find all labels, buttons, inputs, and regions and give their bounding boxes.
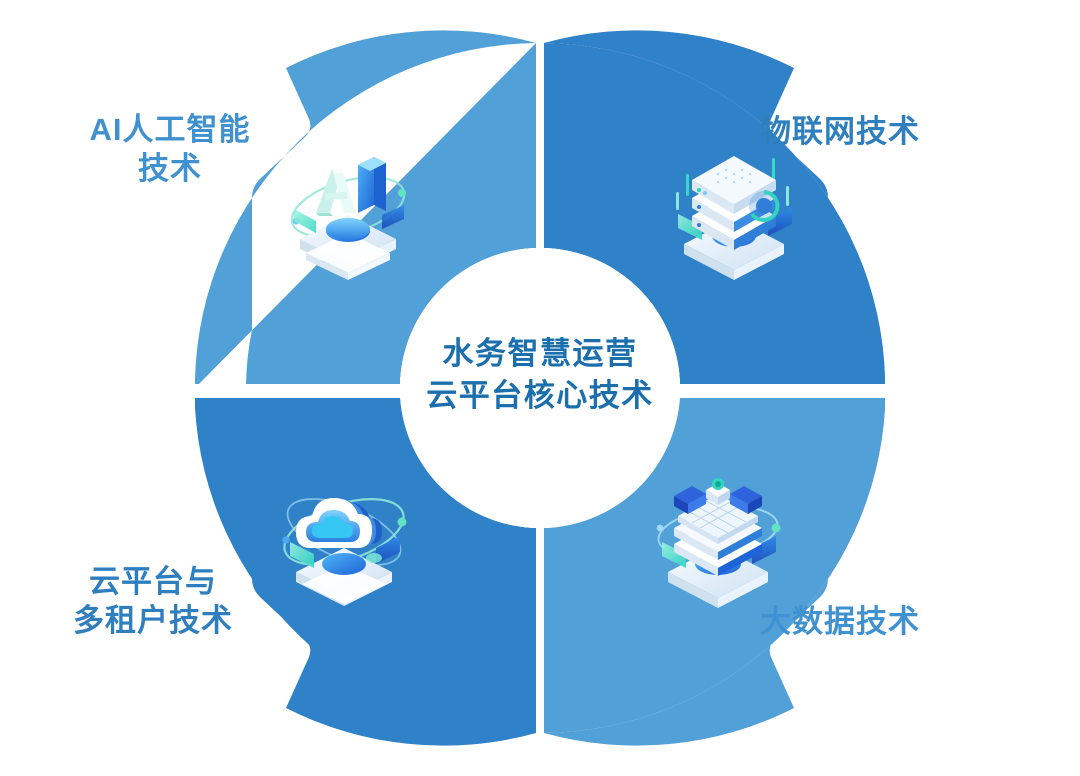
- center-title: 水务智慧运营 云平台核心技术: [390, 333, 690, 416]
- quadrant-label-ai[interactable]: AI人工智能 技术: [40, 110, 300, 188]
- quadrant-label-bigdata[interactable]: 大数据技术: [760, 602, 1040, 641]
- quadrant-label-iot[interactable]: 物联网技术: [760, 112, 1040, 151]
- quadrant-label-cloud[interactable]: 云平台与 多租户技术: [28, 562, 278, 640]
- diagram-canvas: AI人工智能 技术 物联网技术 云平台与 多租户技术 大数据技术 水务智慧运营 …: [0, 0, 1080, 776]
